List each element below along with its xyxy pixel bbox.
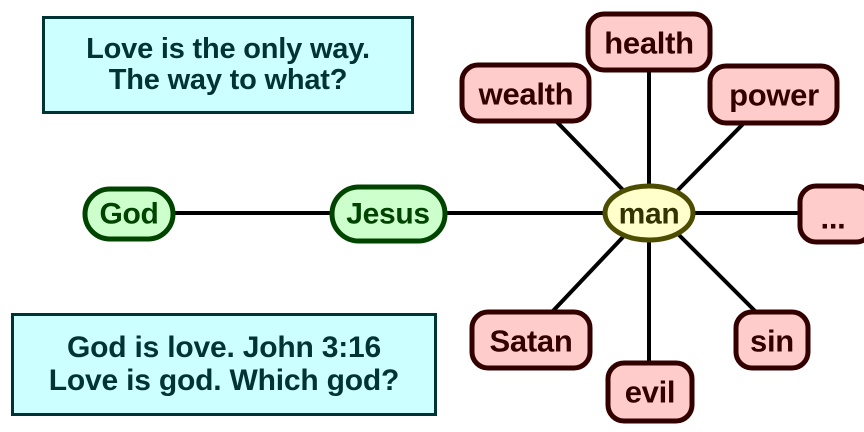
- node-man-label: man: [619, 198, 680, 231]
- node-power-label: power: [729, 78, 819, 113]
- callout-top: Love is the only way. The way to what?: [42, 16, 414, 114]
- callout-top-line1: Love is the only way.: [86, 34, 370, 65]
- node-evil[interactable]: evil: [608, 363, 692, 421]
- node-sin-label: sin: [750, 324, 794, 359]
- node-satan-label: Satan: [490, 324, 573, 359]
- diagram-canvas: God Jesus man health wealth power: [0, 0, 864, 432]
- callout-bottom: God is love. John 3:16 Love is god. Whic…: [11, 313, 437, 416]
- callout-bottom-line2: Love is god. Which god?: [49, 365, 399, 397]
- node-god-label: God: [99, 198, 158, 231]
- node-god[interactable]: God: [85, 189, 173, 239]
- node-sin[interactable]: sin: [736, 312, 808, 368]
- node-health[interactable]: health: [588, 14, 710, 70]
- node-wealth-label: wealth: [478, 77, 574, 112]
- node-etc[interactable]: ...: [800, 186, 864, 242]
- node-etc-label: ...: [821, 201, 846, 236]
- node-jesus-label: Jesus: [346, 198, 430, 231]
- callout-top-line2: The way to what?: [109, 65, 348, 96]
- node-evil-label: evil: [625, 375, 676, 410]
- node-satan[interactable]: Satan: [472, 312, 590, 368]
- callout-bottom-line1: God is love. John 3:16: [67, 332, 381, 364]
- node-wealth[interactable]: wealth: [462, 65, 589, 121]
- node-jesus[interactable]: Jesus: [332, 187, 445, 241]
- node-health-label: health: [604, 26, 694, 61]
- node-man[interactable]: man: [605, 186, 693, 240]
- node-power[interactable]: power: [710, 66, 837, 123]
